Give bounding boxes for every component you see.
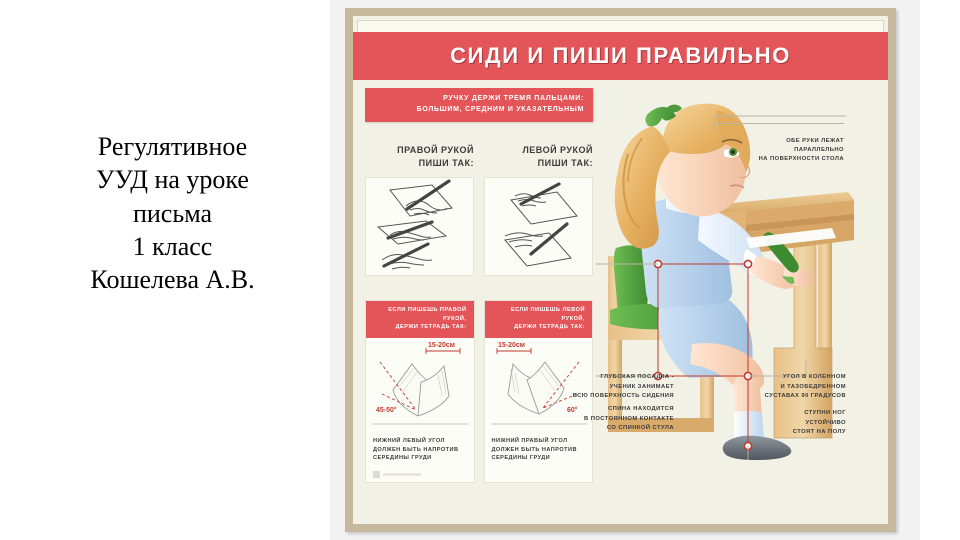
notebook-card-right-hand: ЕСЛИ ПИШЕШЬ ПРАВОЙ РУКОЙ, ДЕРЖИ ТЕТРАДЬ …: [365, 300, 475, 483]
callout-back-contact: СПИНА НАХОДИТСЯ В ПОСТОЯННОМ КОНТАКТЕ СО…: [544, 396, 674, 433]
pen-grip-banner: РУЧКУ ДЕРЖИ ТРЕМЯ ПАЛЬЦАМИ: БОЛЬШИМ, СРЕ…: [365, 88, 593, 122]
callout-joint-angle: УГОЛ В КОЛЕННОМ И ТАЗОБЕДРЕННОМ СУСТАВАХ…: [724, 364, 846, 401]
notebook-left-distance-label: 15-20см: [498, 342, 525, 349]
watermark-logo-icon: [373, 471, 380, 478]
notebook-right-heading: ЕСЛИ ПИШЕШЬ ПРАВОЙ РУКОЙ, ДЕРЖИ ТЕТРАДЬ …: [366, 301, 474, 338]
poster-title-bar: СИДИ И ПИШИ ПРАВИЛЬНО: [353, 32, 888, 80]
callout-back-contact-text: СПИНА НАХОДИТСЯ В ПОСТОЯННОМ КОНТАКТЕ СО…: [584, 406, 674, 431]
callout-feet-on-floor: СТУПНИ НОГ УСТОЙЧИВО СТОЯТ НА ПОЛУ: [724, 400, 846, 437]
posture-illustration: ОБЕ РУКИ ЛЕЖАТ ПАРАЛЛЕЛЬНО НА ПОВЕРХНОСТ…: [596, 88, 888, 524]
left-hand-heading: ЛЕВОЙ РУКОЙ ПИШИ ТАК:: [484, 144, 593, 170]
hand-technique-row: ПРАВОЙ РУКОЙ ПИШИ ТАК:: [365, 144, 593, 276]
notebook-right-diagram: 15-20см 45-50°: [366, 338, 474, 433]
slide: Регулятивное УУД на уроке письма 1 класс…: [0, 0, 960, 540]
notebook-left-caption: НИЖНИЙ ПРАВЫЙ УГОЛ ДОЛЖЕН БЫТЬ НАПРОТИВ …: [485, 433, 593, 471]
notebook-right-caption: НИЖНИЙ ЛЕВЫЙ УГОЛ ДОЛЖЕН БЫТЬ НАПРОТИВ С…: [366, 433, 474, 471]
notebook-right-distance-label: 15-20см: [428, 342, 455, 349]
lead-line-3: письма: [40, 197, 305, 230]
callout-joint-angle-text: УГОЛ В КОЛЕННОМ И ТАЗОБЕДРЕННОМ СУСТАВАХ…: [765, 374, 846, 399]
right-hand-writing-icon: [365, 177, 474, 276]
lead-line-1: Регулятивное: [40, 130, 305, 163]
right-hand-heading: ПРАВОЙ РУКОЙ ПИШИ ТАК:: [365, 144, 474, 170]
poster-frame: СИДИ И ПИШИ ПРАВИЛЬНО РУЧКУ ДЕРЖИ ТРЕМЯ …: [345, 8, 896, 532]
callout-hands-on-desk: ОБЕ РУКИ ЛЕЖАТ ПАРАЛЛЕЛЬНО НА ПОВЕРХНОСТ…: [714, 114, 844, 164]
lead-line-2: УУД на уроке: [40, 163, 305, 196]
lead-line-4: 1 класс: [40, 230, 305, 263]
poster-title: СИДИ И ПИШИ ПРАВИЛЬНО: [450, 43, 791, 69]
callout-feet-on-floor-text: СТУПНИ НОГ УСТОЙЧИВО СТОЯТ НА ПОЛУ: [793, 410, 846, 435]
lead-text-block: Регулятивное УУД на уроке письма 1 класс…: [40, 130, 305, 296]
left-hand-writing-icon: [484, 177, 593, 276]
right-hand-column: ПРАВОЙ РУКОЙ ПИШИ ТАК:: [365, 144, 474, 276]
left-hand-column: ЛЕВОЙ РУКОЙ ПИШИ ТАК:: [484, 144, 593, 276]
poster-body: СИДИ И ПИШИ ПРАВИЛЬНО РУЧКУ ДЕРЖИ ТРЕМЯ …: [353, 16, 888, 524]
publisher-watermark: [366, 471, 474, 482]
lead-line-5: Кошелева А.В.: [40, 263, 305, 296]
notebook-left-heading: ЕСЛИ ПИШЕШЬ ЛЕВОЙ РУКОЙ, ДЕРЖИ ТЕТРАДЬ Т…: [485, 301, 593, 338]
notebook-right-angle-label: 45-50°: [376, 406, 397, 414]
callout-hands-on-desk-text: ОБЕ РУКИ ЛЕЖАТ ПАРАЛЛЕЛЬНО НА ПОВЕРХНОСТ…: [759, 138, 844, 163]
